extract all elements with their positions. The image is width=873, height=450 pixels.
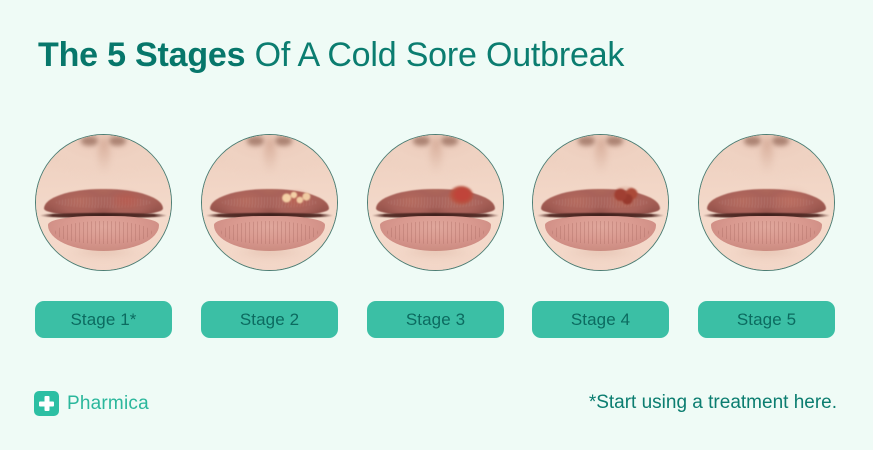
footnote-text: *Start using a treatment here. bbox=[589, 392, 837, 414]
stage-item-1: Stage 1* bbox=[35, 134, 172, 271]
page-title-emphasis: The 5 Stages bbox=[38, 36, 245, 74]
nostril-left bbox=[247, 136, 265, 145]
lips-photo-stage-4 bbox=[532, 134, 669, 271]
stage-label-2[interactable]: Stage 2 bbox=[201, 301, 338, 338]
infographic-canvas: The 5 Stages Of A Cold Sore Outbreak Sta… bbox=[0, 0, 873, 450]
stage-item-4: Stage 4 bbox=[532, 134, 669, 271]
lips-photo-stage-5 bbox=[698, 134, 835, 271]
nostril-right bbox=[606, 136, 624, 145]
lips-photo-stage-3 bbox=[367, 134, 504, 271]
page-title-remainder: Of A Cold Sore Outbreak bbox=[245, 36, 624, 74]
nostril-left bbox=[744, 136, 762, 145]
stage-item-2: Stage 2 bbox=[201, 134, 338, 271]
brand-name: Pharmica bbox=[67, 393, 149, 415]
nostril-right bbox=[275, 136, 293, 145]
medical-cross-icon bbox=[34, 391, 59, 416]
stage-label-1[interactable]: Stage 1* bbox=[35, 301, 172, 338]
nostril-right bbox=[109, 136, 127, 145]
stage-item-5: Stage 5 bbox=[698, 134, 835, 271]
nostril-right bbox=[772, 136, 790, 145]
lips-photo-stage-2 bbox=[201, 134, 338, 271]
stage-list: Stage 1* Stage 2 bbox=[35, 134, 840, 344]
stage-item-3: Stage 3 bbox=[367, 134, 504, 271]
lips-photo-stage-1 bbox=[35, 134, 172, 271]
nostril-left bbox=[578, 136, 596, 145]
nostril-left bbox=[413, 136, 431, 145]
nostril-left bbox=[81, 136, 99, 145]
stage-label-4[interactable]: Stage 4 bbox=[532, 301, 669, 338]
stage-label-3[interactable]: Stage 3 bbox=[367, 301, 504, 338]
brand-logo[interactable]: Pharmica bbox=[34, 391, 149, 416]
nostril-right bbox=[441, 136, 459, 145]
page-title: The 5 Stages Of A Cold Sore Outbreak bbox=[38, 32, 848, 78]
stage-label-5[interactable]: Stage 5 bbox=[698, 301, 835, 338]
